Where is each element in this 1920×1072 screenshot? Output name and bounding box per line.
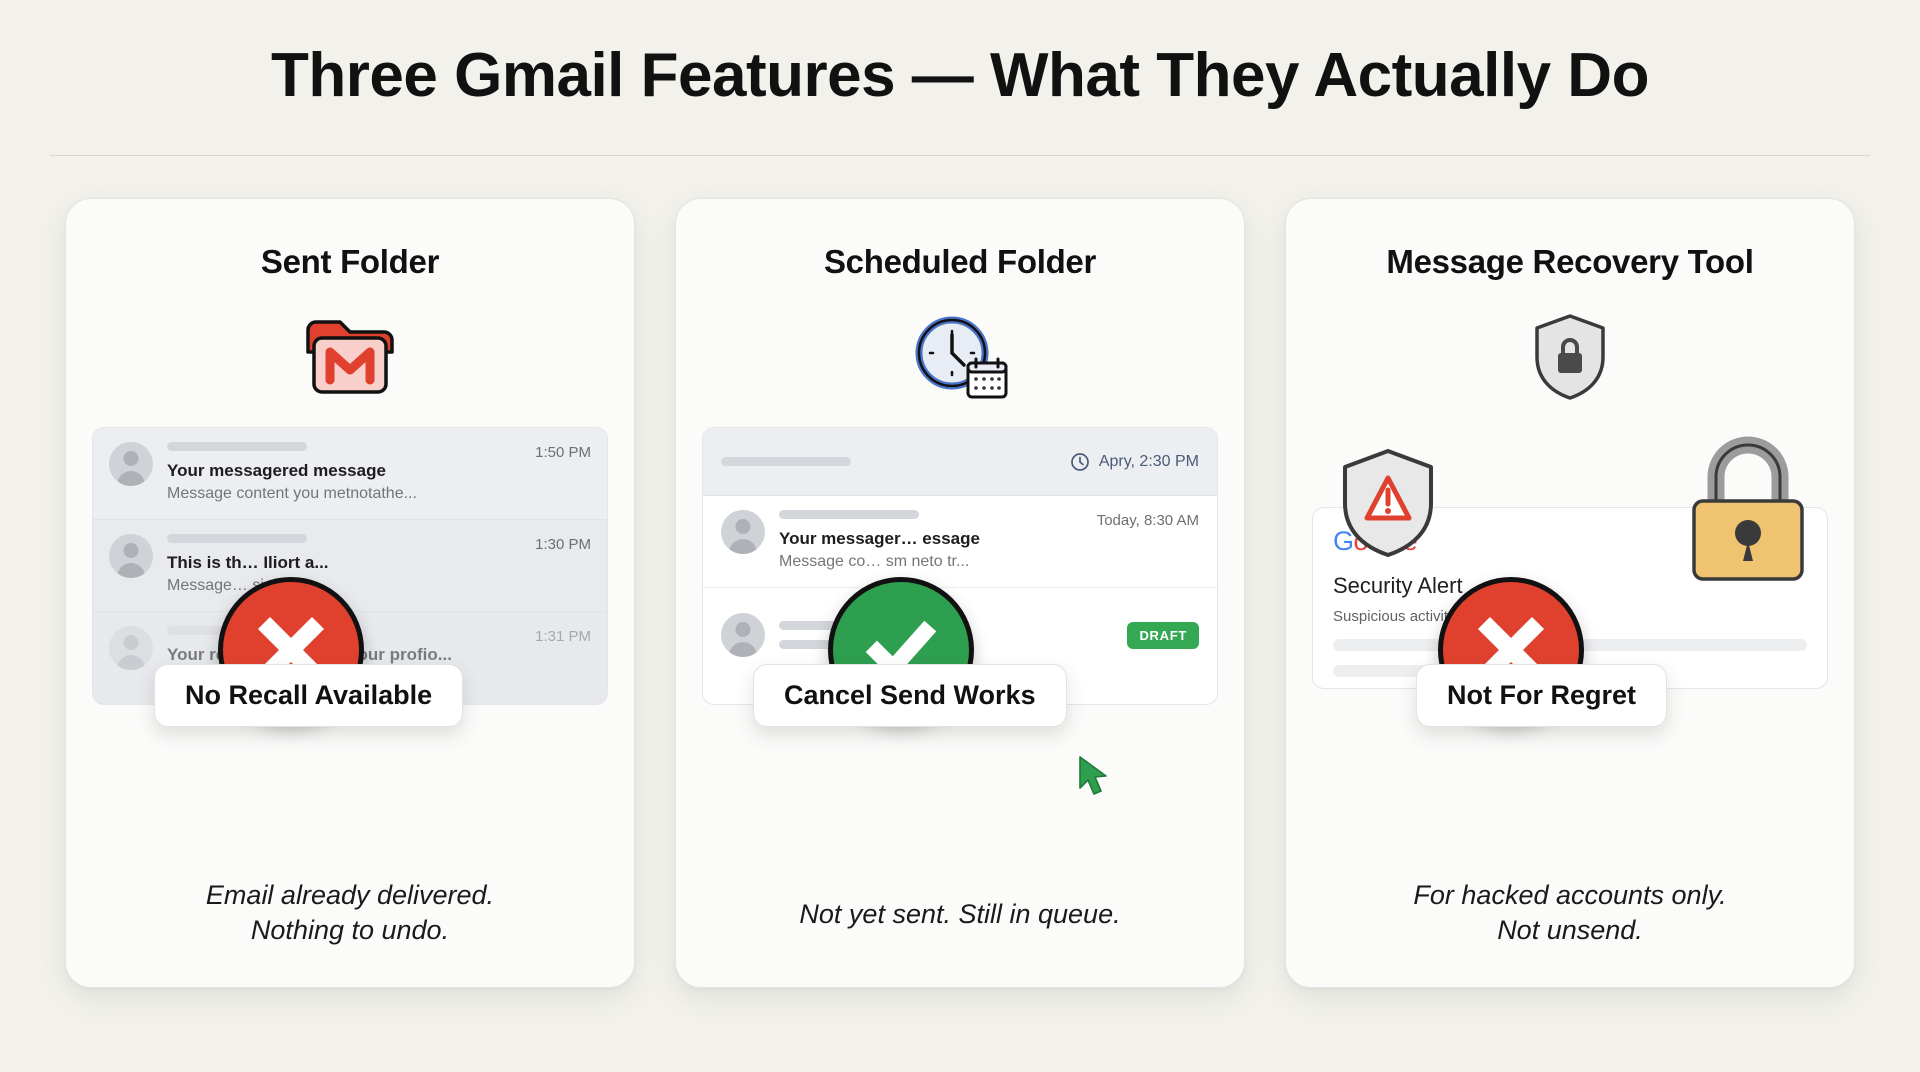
avatar — [721, 510, 765, 554]
avatar — [109, 442, 153, 486]
scheduled-time-label: Apry, 2:30 PM — [1099, 453, 1199, 471]
arrow-cursor-icon — [1076, 755, 1112, 804]
mail-timestamp: 1:50 PM — [535, 442, 591, 461]
mail-subject: This is th… Iliort a... — [167, 553, 521, 573]
placeholder-bar — [721, 457, 851, 466]
mail-timestamp: Today, 8:30 AM — [1097, 510, 1199, 529]
padlock-icon — [1682, 425, 1814, 594]
caption-line-1: For hacked accounts only. — [1310, 878, 1830, 913]
gmail-folder-icon — [92, 303, 608, 411]
card-title: Message Recovery Tool — [1312, 243, 1828, 281]
avatar — [109, 534, 153, 578]
scheduled-time-group: Apry, 2:30 PM — [1070, 452, 1199, 472]
card-caption: Email already delivered. Nothing to undo… — [66, 878, 634, 947]
placeholder-bar — [167, 534, 307, 543]
page-title: Three Gmail Features — What They Actuall… — [0, 0, 1920, 110]
caption-line-1: Email already delivered. — [90, 878, 610, 913]
clock-calendar-icon — [702, 303, 1218, 411]
status-badge: Cancel Send Works — [753, 664, 1067, 727]
mail-snippet: Message… sigh to... — [167, 577, 521, 595]
card-title: Scheduled Folder — [702, 243, 1218, 281]
warning-shield-icon — [1336, 445, 1440, 566]
avatar — [721, 613, 765, 657]
card-title: Sent Folder — [92, 243, 608, 281]
mail-subject: Your messager… essage — [779, 529, 1083, 549]
avatar — [109, 626, 153, 670]
placeholder-bar — [779, 510, 919, 519]
clock-icon — [1070, 452, 1090, 472]
mail-subject: Your messagered message — [167, 461, 521, 481]
mail-timestamp: 1:30 PM — [535, 534, 591, 553]
feature-cards-row: Sent Folder Your messagered message Mess… — [0, 198, 1920, 988]
placeholder-bar — [167, 442, 307, 451]
mail-snippet: Message content you metnotathe... — [167, 485, 521, 503]
caption-line-2: Not unsend. — [1310, 913, 1830, 948]
table-row[interactable]: Your messagered message Message content … — [93, 428, 607, 520]
mail-snippet: Message co… sm neto tr... — [779, 553, 1083, 571]
scheduled-header: Apry, 2:30 PM — [703, 428, 1217, 496]
table-row[interactable]: Your messager… essage Message co… sm net… — [703, 496, 1217, 588]
mail-timestamp: 1:31 PM — [535, 626, 591, 645]
title-divider — [50, 155, 1870, 156]
card-caption: For hacked accounts only. Not unsend. — [1286, 878, 1854, 947]
caption-line-2: Nothing to undo. — [90, 913, 610, 948]
status-badge: Not For Regret — [1416, 664, 1667, 727]
card-caption: Not yet sent. Still in queue. — [676, 897, 1244, 932]
status-badge: No Recall Available — [154, 664, 463, 727]
draft-badge: DRAFT — [1127, 622, 1199, 649]
card-scheduled-folder[interactable]: Scheduled Folder — [675, 198, 1245, 988]
shield-lock-icon — [1312, 303, 1828, 411]
card-message-recovery-tool[interactable]: Message Recovery Tool Google Security Al… — [1285, 198, 1855, 988]
caption-line-1: Not yet sent. Still in queue. — [700, 897, 1220, 932]
table-row[interactable]: This is th… Iliort a... Message… sigh to… — [93, 520, 607, 612]
card-sent-folder[interactable]: Sent Folder Your messagered message Mess… — [65, 198, 635, 988]
